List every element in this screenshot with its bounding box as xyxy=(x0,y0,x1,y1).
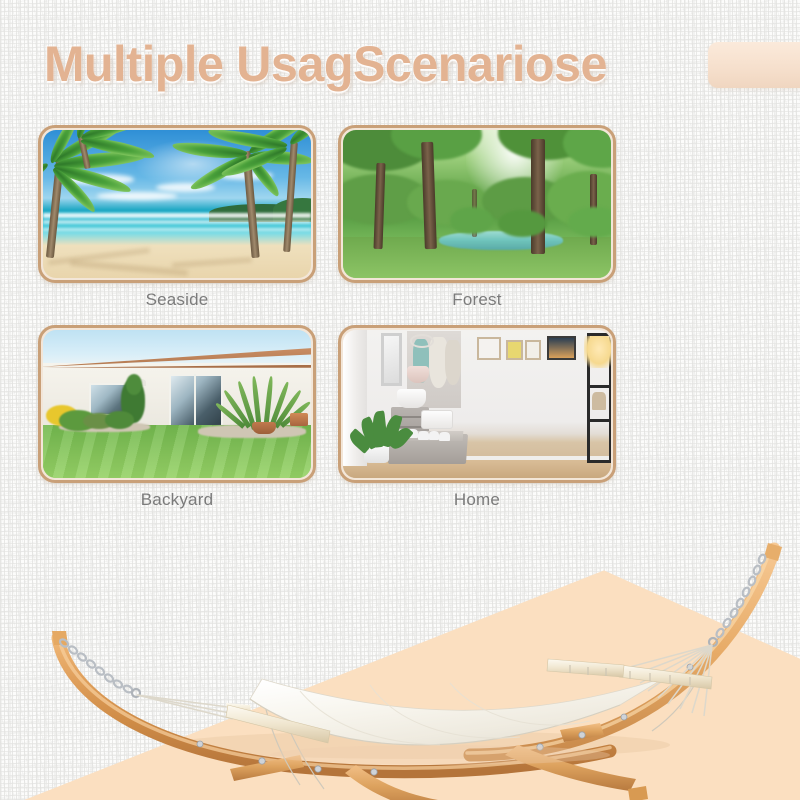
scenario-label: Forest xyxy=(338,290,616,310)
seaside-photo xyxy=(43,130,311,278)
product-image xyxy=(0,455,800,800)
scenario-label: Seaside xyxy=(38,290,316,310)
door-mullion xyxy=(194,374,196,430)
shrub xyxy=(450,207,493,234)
cord-fan-left xyxy=(137,695,233,719)
shoe xyxy=(429,431,440,440)
mirror xyxy=(381,333,402,386)
sand-shadow xyxy=(70,260,188,276)
plant-pot xyxy=(290,413,309,426)
framed-art xyxy=(477,337,501,359)
decorative-tab xyxy=(708,42,800,88)
card-frame xyxy=(338,125,616,283)
bolt xyxy=(621,714,627,720)
forest-photo xyxy=(343,130,611,278)
shelf-board xyxy=(587,385,611,388)
scenario-row: Seaside xyxy=(38,125,616,310)
shrub xyxy=(568,207,611,237)
framed-art xyxy=(506,340,522,359)
palm-frond xyxy=(43,160,51,189)
plant-pot xyxy=(252,422,276,434)
storage-box xyxy=(421,410,453,429)
bolt xyxy=(197,741,203,747)
shoe xyxy=(439,432,450,441)
bush xyxy=(105,411,134,429)
surf-line xyxy=(43,213,311,218)
surf-line xyxy=(43,228,311,231)
marketing-banner: Multiple UsagScenariose xyxy=(0,0,800,800)
page-title: Multiple UsagScenariose xyxy=(44,38,665,91)
hanging-coat xyxy=(445,340,461,384)
shelf-decor xyxy=(592,392,605,410)
framed-art xyxy=(547,336,576,360)
shelf-lamp xyxy=(584,336,611,369)
cloud xyxy=(97,192,177,199)
wreath xyxy=(410,334,434,347)
scenario-grid: Seaside xyxy=(38,125,616,510)
fabric-shadow xyxy=(270,745,610,765)
shoe xyxy=(418,431,429,440)
bolt xyxy=(259,758,265,764)
sand-shadow xyxy=(172,257,253,268)
scenario-card-seaside[interactable]: Seaside xyxy=(38,125,316,310)
bolt xyxy=(579,732,585,738)
canopy xyxy=(563,130,611,168)
framed-art xyxy=(525,340,541,359)
scenario-card-forest[interactable]: Forest xyxy=(338,125,616,310)
bolt xyxy=(315,766,321,772)
white-handbag xyxy=(397,389,426,408)
tree-trunk xyxy=(531,139,545,254)
card-frame xyxy=(38,125,316,283)
spreader-bar-right-inner xyxy=(547,659,624,677)
bolt xyxy=(371,769,377,775)
surf-line xyxy=(43,220,311,224)
shrub xyxy=(498,210,546,237)
shelf-board xyxy=(587,419,611,422)
